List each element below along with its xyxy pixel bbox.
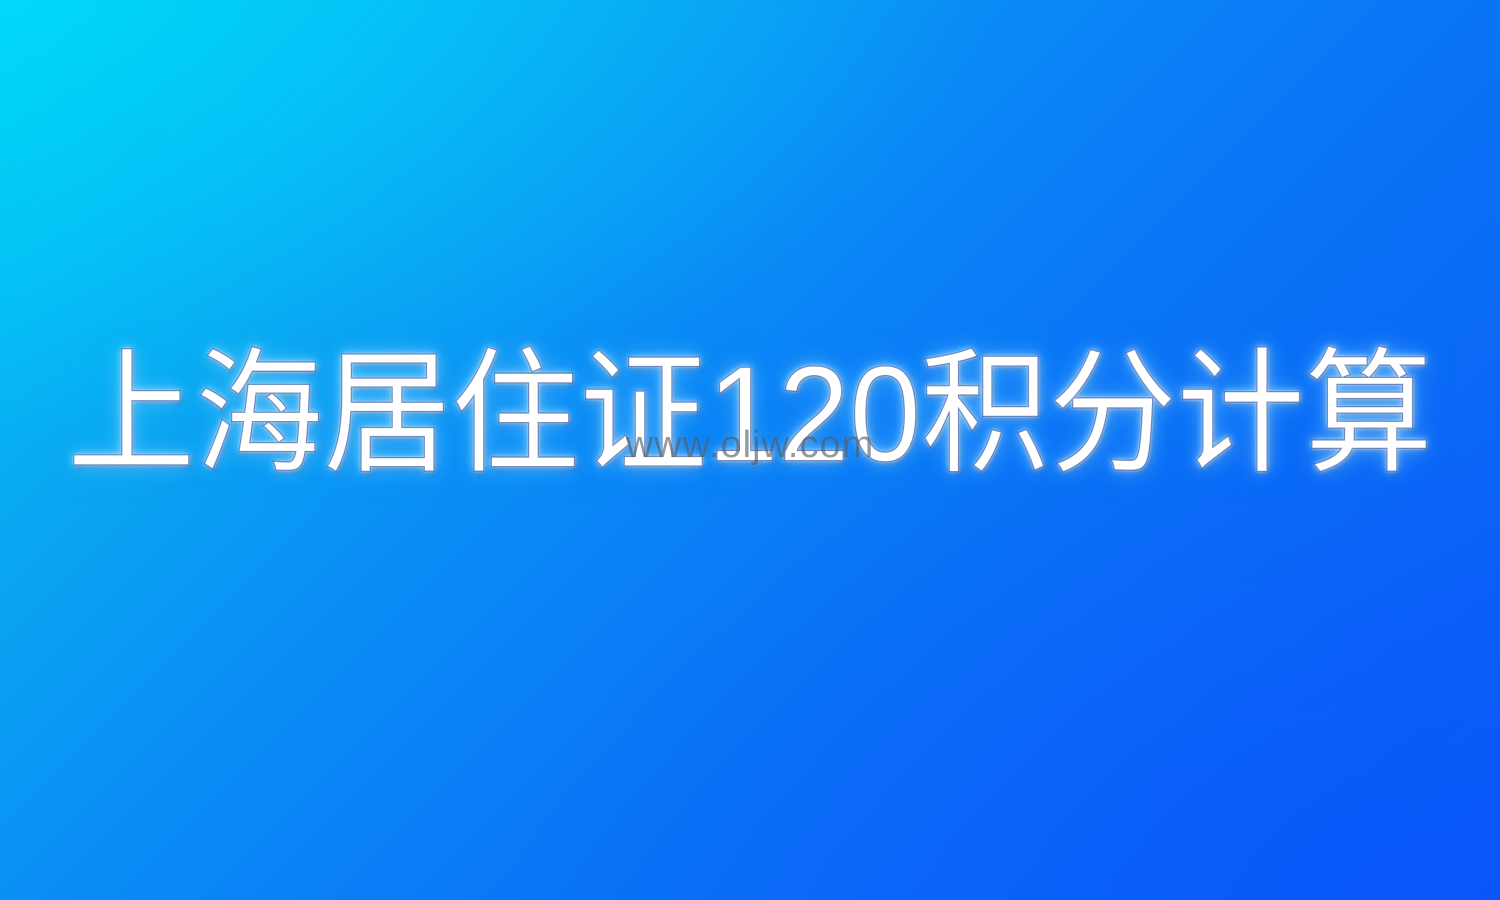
title-card: 上海居住证120积分计算 www.oljw.com xyxy=(0,0,1500,900)
page-title: 上海居住证120积分计算 xyxy=(67,347,1433,483)
title-container: 上海居住证120积分计算 xyxy=(0,340,1500,490)
